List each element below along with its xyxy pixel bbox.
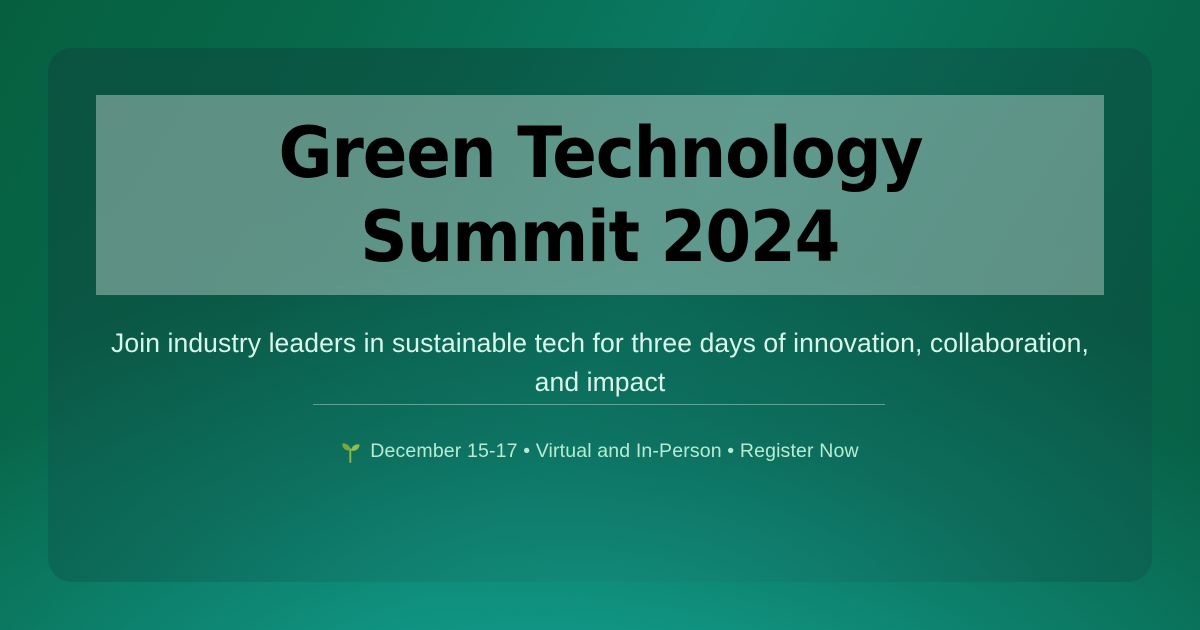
- event-meta-line: December 15-17 • Virtual and In-Person •…: [98, 437, 1102, 465]
- hero-card: Green Technology Summit 2024 Join indust…: [48, 48, 1152, 582]
- hero-subtitle: Join industry leaders in sustainable tec…: [98, 324, 1102, 402]
- event-meta-text: December 15-17 • Virtual and In-Person •…: [370, 437, 858, 465]
- poster-canvas: Green Technology Summit 2024 Join indust…: [0, 0, 1200, 630]
- section-divider: [313, 404, 885, 405]
- page-title-line-2: Summit 2024: [360, 195, 839, 279]
- page-title-line-1: Green Technology: [278, 111, 922, 195]
- title-banner: Green Technology Summit 2024: [96, 95, 1104, 295]
- seedling-icon: [341, 441, 361, 463]
